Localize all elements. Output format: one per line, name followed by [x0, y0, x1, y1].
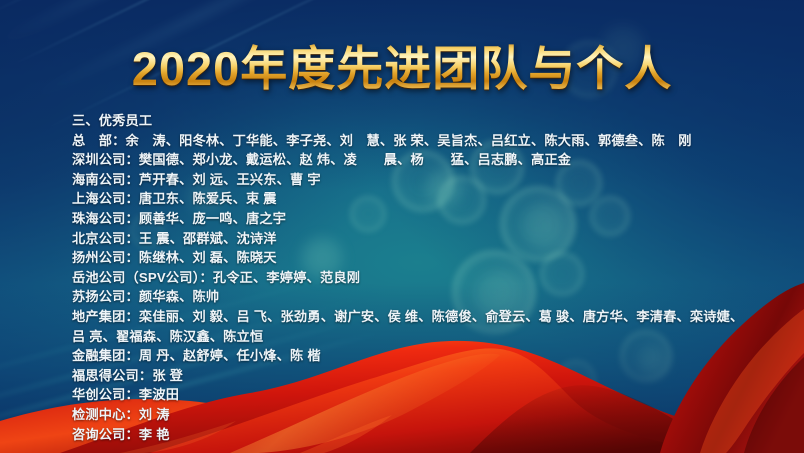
- presentation-slide: 2020年度先进团队与个人 三、优秀员工 总 部：余 涛、阳冬林、丁华能、李子尧…: [0, 0, 804, 453]
- list-item: 检测中心：刘 涛: [72, 405, 798, 425]
- list-item: 三、优秀员工: [72, 111, 798, 131]
- list-item: 海南公司：芦开春、刘 远、王兴东、曹 宇: [72, 170, 798, 190]
- list-item: 苏扬公司：颜华森、陈帅: [72, 287, 798, 307]
- list-item: 深圳公司：樊国德、郑小龙、戴运松、赵 炜、凌 晨、杨 猛、吕志鹏、高正金: [72, 150, 798, 170]
- employee-list: 三、优秀员工 总 部：余 涛、阳冬林、丁华能、李子尧、刘 慧、张 荣、吴旨杰、吕…: [72, 111, 798, 444]
- list-item: 珠海公司：顾善华、庞一鸣、唐之宇: [72, 209, 798, 229]
- list-item: 上海公司：唐卫东、陈爱兵、束 震: [72, 189, 798, 209]
- list-item: 岳池公司（SPV公司）：孔令正、李婷婷、范良刚: [72, 268, 798, 288]
- list-item: 北京公司：王 震、邵群斌、沈诗洋: [72, 229, 798, 249]
- list-item: 金融集团：周 丹、赵舒婷、任小烽、陈 楷: [72, 346, 798, 366]
- list-item: 扬州公司：陈继林、刘 磊、陈晓天: [72, 248, 798, 268]
- list-item: 地产集团：栾佳丽、刘 毅、吕 飞、张劲勇、谢广安、侯 维、陈德俊、俞登云、葛 骏…: [72, 307, 798, 327]
- title-area: 2020年度先进团队与个人: [0, 40, 804, 97]
- list-item: 总 部：余 涛、阳冬林、丁华能、李子尧、刘 慧、张 荣、吴旨杰、吕红立、陈大雨、…: [72, 131, 798, 151]
- page-title: 2020年度先进团队与个人: [132, 40, 673, 97]
- list-item: 吕 亮、翟福森、陈汉鑫、陈立恒: [72, 327, 798, 347]
- list-item: 福思得公司：张 登: [72, 366, 798, 386]
- list-item: 咨询公司：李 艳: [72, 425, 798, 445]
- list-item: 华创公司：李波田: [72, 385, 798, 405]
